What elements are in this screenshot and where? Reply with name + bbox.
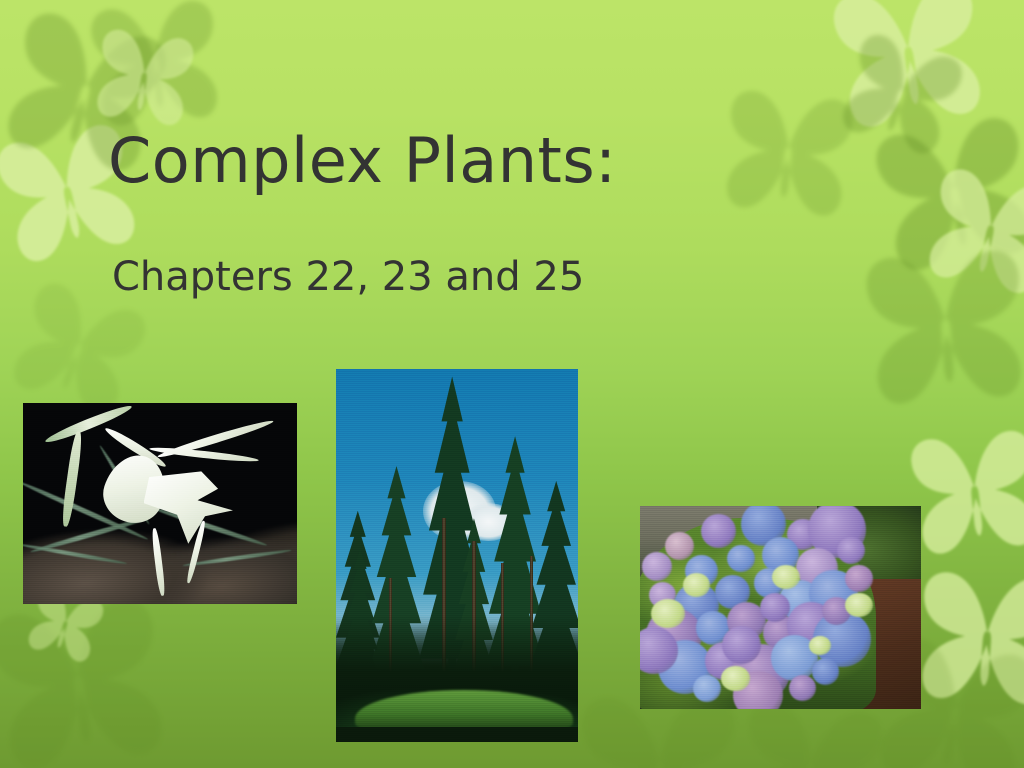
butterfly-pale-top-right	[827, 0, 992, 137]
hydrangea-bloom	[701, 514, 736, 548]
presentation-slide: Complex Plants: Chapters 22, 23 and 25	[0, 0, 1024, 768]
hydrangea-bloom-pale	[683, 573, 710, 596]
hydrangea-bloom	[665, 532, 694, 560]
page-title: Complex Plants:	[108, 128, 617, 193]
page-subtitle: Chapters 22, 23 and 25	[112, 255, 584, 299]
butterfly-dark-left-bottom	[0, 589, 175, 768]
butterfly-dark-top-left-2	[86, 0, 227, 134]
butterfly-pale-top-center	[90, 24, 198, 132]
butterfly-pale-right-mid	[919, 161, 1024, 303]
ghost-orchid-photo	[23, 403, 297, 604]
hydrangea-bloom	[722, 626, 761, 664]
hydrangea-bloom	[693, 675, 721, 702]
hydrangea-bloom	[837, 537, 865, 564]
hydrangea-bloom	[642, 552, 671, 581]
hydrangea-bloom-pale	[772, 565, 799, 589]
hydrangea-bloom	[760, 593, 790, 622]
butterfly-pale-right-lower	[906, 424, 1024, 562]
hydrangea-bloom-pale	[809, 636, 831, 655]
conifer-forest-photo	[336, 369, 578, 742]
hydrangea-bloom	[727, 545, 755, 572]
hydrangea-photo	[640, 506, 921, 709]
hydrangea-bloom	[845, 565, 872, 592]
butterfly-dark-right-mid	[718, 84, 859, 225]
butterfly-pale-right-bottom	[913, 565, 1024, 712]
butterfly-dark-right-low	[861, 243, 1024, 414]
forest-floor	[336, 727, 578, 742]
hydrangea-bloom-pale	[721, 666, 749, 691]
butterfly-dark-right-upper	[868, 108, 1024, 282]
butterfly-dark-top-right	[832, 26, 971, 165]
